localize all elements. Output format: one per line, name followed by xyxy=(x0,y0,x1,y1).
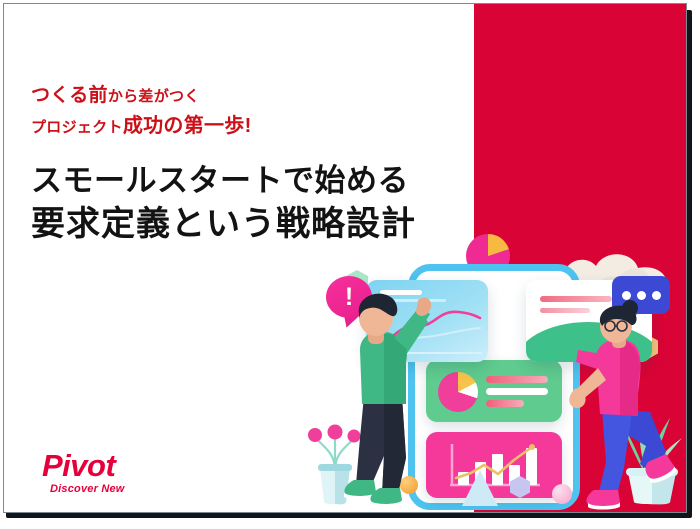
woman-character xyxy=(576,302,680,512)
pink-sphere-shape xyxy=(552,484,572,504)
kicker-text: つくる前から差がつく プロジェクト成功の第一歩! xyxy=(31,84,481,140)
kicker-line-1-rest: から差がつく xyxy=(108,88,200,105)
slide-card: つくる前から差がつく プロジェクト成功の第一歩! スモールスタートで始める 要求… xyxy=(3,3,687,513)
pie-card-line-2 xyxy=(486,388,548,395)
hero-illustration: ! xyxy=(304,232,687,513)
kicker-line-2: プロジェクト成功の第一歩! xyxy=(31,114,481,140)
kicker-line-1: つくる前から差がつく xyxy=(31,84,481,108)
pie-card-line-3 xyxy=(486,400,524,407)
logo-tagline: Discover New xyxy=(50,483,192,495)
copy-block: つくる前から差がつく プロジェクト成功の第一歩! スモールスタートで始める 要求… xyxy=(31,84,481,246)
kicker-line-1-main: つくる前 xyxy=(31,85,108,106)
headline-line-1: スモールスタートで始める xyxy=(31,162,481,200)
kicker-line-2-main: 成功の第一歩! xyxy=(123,115,252,137)
pie-chart-graphic xyxy=(438,372,478,412)
kicker-line-2-prefix: プロジェクト xyxy=(31,119,123,136)
man-character xyxy=(324,288,432,510)
slide-stage: つくる前から差がつく プロジェクト成功の第一歩! スモールスタートで始める 要求… xyxy=(0,0,700,529)
logo-wordmark: Pivot xyxy=(42,450,192,481)
brand-logo: Pivot Discover New xyxy=(42,450,192,495)
blue-cone-shape xyxy=(462,470,498,506)
pie-card-line-1 xyxy=(486,376,548,383)
